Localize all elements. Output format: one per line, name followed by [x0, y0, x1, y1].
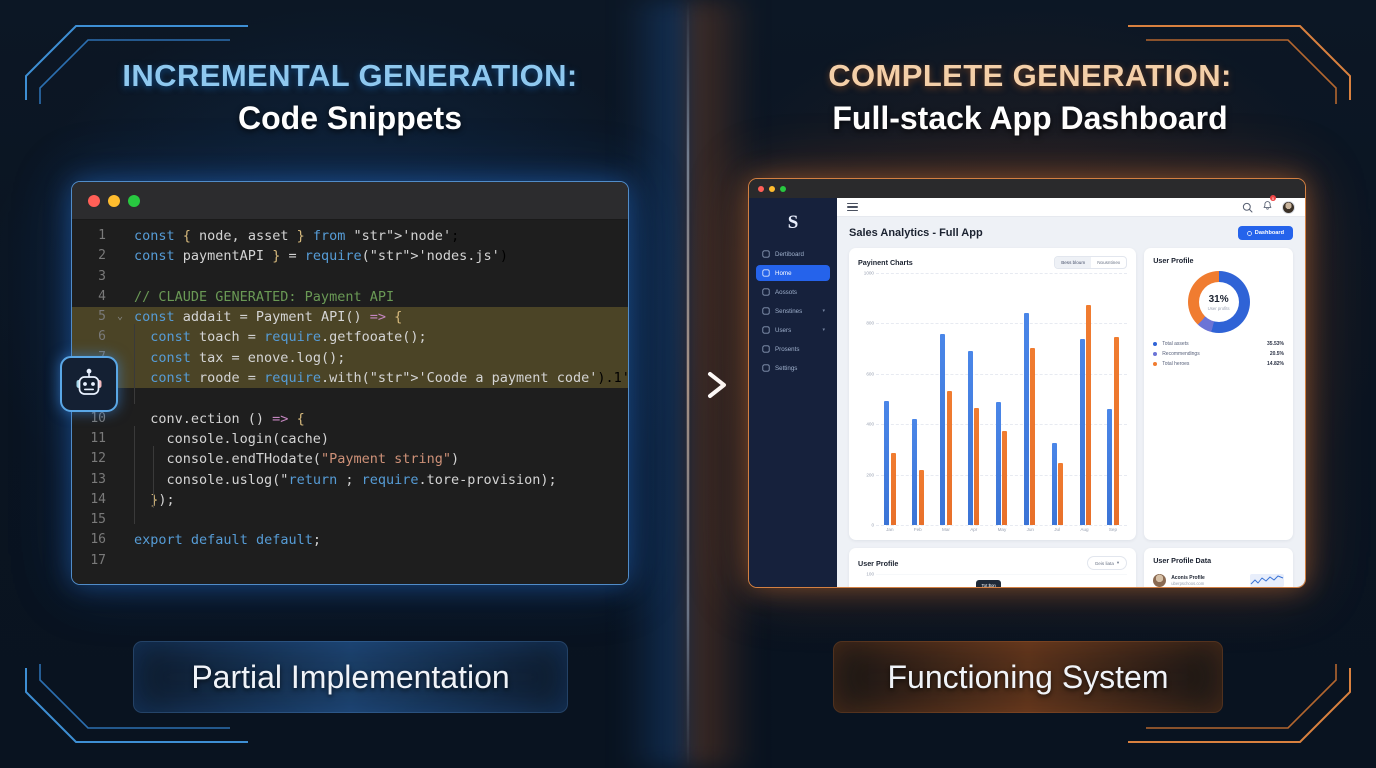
code-text: // CLAUDE GENERATED: Payment API: [126, 287, 394, 307]
sidebar-item-dertiboard[interactable]: Dertiboard: [756, 246, 830, 262]
bar: [884, 401, 889, 525]
sidebar-item-label: Users: [775, 327, 791, 334]
dashboard-page-header: Sales Analytics - Full App Dashboard: [837, 217, 1305, 244]
bar: [912, 419, 917, 526]
code-line: 3: [72, 267, 628, 287]
home-icon: [762, 250, 770, 258]
bar: [974, 408, 979, 525]
y-tick: 1000: [864, 271, 874, 276]
code-line: 14 });: [72, 490, 628, 510]
app-logo: S: [749, 208, 837, 238]
toggle-option-1[interactable]: Nousntinex: [1091, 257, 1126, 268]
sidebar-item-label: Aossots: [775, 289, 797, 296]
code-text: conv.ection () => {: [126, 409, 305, 429]
y-tick: 100: [866, 572, 874, 577]
page-title: Sales Analytics - Full App: [849, 227, 983, 239]
sidebar-item-label: Senstines: [775, 308, 802, 315]
line-number: 6: [72, 327, 114, 347]
arrow-right-icon: [648, 368, 734, 402]
right-heading-line2: Full-stack App Dashboard: [720, 96, 1340, 140]
bar-chart-y-axis: 10008006004002000: [858, 273, 876, 525]
legend-row: Recommendings20.5%: [1153, 351, 1284, 357]
bell-icon[interactable]: 0: [1262, 198, 1273, 216]
code-text: const tax = enove.log();: [126, 348, 345, 368]
sidebar-item-label: Home: [775, 270, 792, 277]
legend-dot: [1153, 362, 1157, 366]
sidebar-item-aossots[interactable]: Aossots: [756, 284, 830, 300]
legend-dot: [1153, 342, 1157, 346]
x-tick: Jul: [1054, 527, 1060, 532]
users-list: Aconis Profileuberpschoos.comAndiel Wasi…: [1153, 569, 1284, 588]
line-number: 17: [72, 551, 114, 571]
search-icon[interactable]: [1242, 202, 1253, 213]
x-tick: Jun: [1027, 527, 1034, 532]
dashboard-titlebar: [749, 179, 1305, 198]
bar: [996, 402, 1001, 526]
sidebar-item-settings[interactable]: Settings: [756, 360, 830, 376]
bar: [1086, 305, 1091, 525]
area-chart-plot-area: 100806040200 Tot $on: [858, 574, 1127, 588]
code-line: 4// CLAUDE GENERATED: Payment API: [72, 287, 628, 307]
bar: [968, 351, 973, 525]
left-heading: INCREMENTAL GENERATION: Code Snippets: [40, 56, 660, 140]
code-text: const roode = require.with("str">'Coode …: [126, 368, 597, 388]
left-label-text: Partial Implementation: [191, 659, 509, 696]
bar-group: [1107, 273, 1119, 525]
area-chart-card: User Profile Geis liata ▾ 100806040200 T…: [849, 548, 1136, 588]
area-chart-dropdown[interactable]: Geis liata ▾: [1087, 556, 1127, 570]
code-text: console.endTHodate("Payment string"): [126, 449, 459, 469]
donut-chart: 31% User profits: [1188, 271, 1250, 333]
user-avatar: [1153, 574, 1166, 587]
line-number: 12: [72, 449, 114, 469]
line-number: 1: [72, 226, 114, 246]
spark-icon: [1247, 231, 1252, 236]
x-tick: May: [998, 527, 1007, 532]
clock-icon: [762, 288, 770, 296]
user-info: Aconis Profileuberpschoos.com: [1171, 575, 1245, 586]
legend-dot: [1153, 352, 1157, 356]
code-text: const { node, asset } from "str">'node': [126, 226, 451, 246]
chevron-down-icon: ▾: [822, 327, 825, 333]
bar: [1030, 348, 1035, 526]
left-heading-line2: Code Snippets: [40, 96, 660, 140]
sidebar-item-label: Settings: [775, 365, 797, 372]
bar-chart-title: Payinent Charts: [858, 258, 913, 267]
dashboard-topbar: 0: [837, 198, 1305, 217]
infographic-canvas: INCREMENTAL GENERATION: Code Snippets CO…: [0, 0, 1376, 768]
sidebar-item-label: Prosents: [775, 346, 799, 353]
bar-group: [1080, 273, 1092, 525]
hamburger-icon[interactable]: [847, 203, 858, 212]
user-email: uberpschoos.com: [1171, 581, 1245, 586]
chart-icon: [762, 307, 770, 315]
line-number: 3: [72, 267, 114, 287]
donut-center-label: User profits: [1208, 306, 1230, 311]
donut-legend: Total assets35.53%Recommendings20.5%Tota…: [1153, 337, 1284, 367]
bar-chart-x-axis: JanFebMarAprMayJunJulAugSep: [858, 527, 1127, 532]
bar-group: [968, 273, 980, 525]
line-number: 4: [72, 287, 114, 307]
gridline: [876, 525, 1127, 526]
area-chart-svg: [876, 574, 1127, 588]
bar-group: [884, 273, 896, 525]
line-number: 2: [72, 246, 114, 266]
code-text: export default default;: [126, 530, 321, 550]
bar: [1114, 337, 1119, 526]
x-tick: Aug: [1080, 527, 1088, 532]
code-line: 11 console.login(cache): [72, 429, 628, 449]
code-line: 13 console.uslog("return ; require.tore-…: [72, 470, 628, 490]
users-card: User Profile Data Aconis Profileuberpsch…: [1144, 548, 1293, 588]
code-line: 7 const tax = enove.log();: [72, 348, 628, 368]
code-line: 9: [72, 388, 628, 408]
line-number: 16: [72, 530, 114, 550]
line-number: 5: [72, 307, 114, 327]
x-tick: Mar: [942, 527, 950, 532]
x-tick: Apr: [970, 527, 977, 532]
legend-label: Total assets: [1162, 341, 1267, 347]
fold-toggle-icon[interactable]: ⌄: [114, 307, 126, 327]
area-chart-y-axis: 100806040200: [858, 574, 876, 588]
maximize-button-dash[interactable]: [780, 186, 786, 192]
right-heading: COMPLETE GENERATION: Full-stack App Dash…: [720, 56, 1340, 140]
sidebar-item-home[interactable]: Home: [756, 265, 830, 281]
x-tick: Sep: [1109, 527, 1117, 532]
code-text: const paymentAPI } = require("str">'node…: [126, 246, 500, 266]
chevron-down-icon: ▾: [822, 308, 825, 314]
code-line: 8 const roode = require.with("str">'Cood…: [72, 368, 628, 388]
user-sparkline: [1250, 574, 1284, 587]
folder-icon: [762, 326, 770, 334]
line-number: 14: [72, 490, 114, 510]
close-button-dash[interactable]: [758, 186, 764, 192]
x-tick: Jan: [886, 527, 893, 532]
code-line: 17: [72, 551, 628, 571]
area-chart-dropdown-label: Geis liata: [1095, 561, 1114, 566]
code-editor-titlebar: [72, 182, 628, 220]
left-heading-line1: INCREMENTAL GENERATION:: [40, 56, 660, 96]
code-line: 6 const toach = require.getfooate();: [72, 327, 628, 347]
area-chart-tooltip: Tot $on: [976, 580, 1000, 588]
dashboard-main: 0 Sales Analytics - Full App Dashboard: [837, 198, 1305, 588]
bar: [1080, 339, 1085, 525]
donut-chart-title: User Profile: [1153, 256, 1193, 265]
sidebar-item-label: Dertiboard: [775, 251, 804, 258]
donut-chart-card: User Profile 31% User profits Total asse…: [1144, 248, 1293, 540]
code-line: 15: [72, 510, 628, 530]
code-editor-window: 1const { node, asset } from "str">'node'…: [71, 181, 629, 585]
donut-center: 31% User profits: [1199, 282, 1239, 322]
line-number: 15: [72, 510, 114, 530]
notification-badge: 0: [1270, 195, 1276, 201]
line-number: 13: [72, 470, 114, 490]
bar-group: [1024, 273, 1036, 525]
users-card-title: User Profile Data: [1153, 556, 1211, 565]
robot-icon: [60, 356, 118, 412]
bar: [891, 453, 896, 525]
code-line: 12 console.endTHodate("Payment string"): [72, 449, 628, 469]
bar-group: [912, 273, 924, 525]
bar-chart-plot-area: 10008006004002000: [858, 273, 1127, 525]
left-label: Partial Implementation: [133, 641, 568, 713]
y-tick: 0: [871, 523, 874, 528]
chevron-down-icon: ▾: [1117, 560, 1119, 566]
legend-label: Recommendings: [1162, 351, 1270, 357]
sidebar-item-users[interactable]: Users▾: [756, 322, 830, 338]
user-row[interactable]: Aconis Profileuberpschoos.com: [1153, 574, 1284, 587]
right-heading-line1: COMPLETE GENERATION:: [720, 56, 1340, 96]
x-tick: Feb: [914, 527, 922, 532]
bar-group: [940, 273, 952, 525]
bar: [919, 470, 924, 525]
donut-center-value: 31%: [1209, 294, 1229, 305]
legend-row: Total heroes14.82%: [1153, 361, 1284, 367]
box-icon: [762, 345, 770, 353]
code-line: 1const { node, asset } from "str">'node'…: [72, 226, 628, 246]
toggle-option-0[interactable]: Bess bloum: [1055, 257, 1091, 268]
legend-value: 35.53%: [1267, 341, 1284, 347]
dashboard-grid: Payinent Charts Bess bloum Nousntinex 10…: [837, 244, 1305, 588]
code-line: 5⌄const addait = Payment API() => {: [72, 307, 628, 327]
bar: [1052, 443, 1057, 525]
dashboard-sidebar: S DertiboardHomeAossotsSenstines▾Users▾P…: [749, 198, 837, 588]
grid-icon: [762, 269, 770, 277]
area-chart-series: [876, 574, 1127, 588]
right-label: Functioning System: [833, 641, 1223, 713]
code-line: 2const paymentAPI } = require("str">'nod…: [72, 246, 628, 266]
code-text: console.login(cache): [126, 429, 329, 449]
bar: [1024, 313, 1029, 525]
y-tick: 800: [866, 321, 874, 326]
legend-value: 20.5%: [1270, 351, 1284, 357]
bar: [1002, 431, 1007, 525]
dashboard-window: S DertiboardHomeAossotsSenstines▾Users▾P…: [748, 178, 1306, 588]
legend-row: Total assets35.53%: [1153, 341, 1284, 347]
bar-group: [1052, 273, 1064, 525]
gear-icon: [762, 364, 770, 372]
code-line: 16export default default;: [72, 530, 628, 550]
code-editor-body[interactable]: 1const { node, asset } from "str">'node'…: [72, 220, 628, 585]
area-chart-title: User Profile: [858, 559, 898, 568]
bar: [940, 334, 945, 525]
bar-chart-card: Payinent Charts Bess bloum Nousntinex 10…: [849, 248, 1136, 540]
y-tick: 200: [866, 472, 874, 477]
sidebar-item-senstines[interactable]: Senstines▾: [756, 303, 830, 319]
close-button[interactable]: [88, 195, 100, 207]
y-tick: 600: [866, 371, 874, 376]
code-text: console.uslog("return ; require.tore-pro…: [126, 470, 557, 490]
dashboard-primary-button[interactable]: Dashboard: [1238, 226, 1293, 240]
bar: [947, 391, 952, 525]
bar-group: [996, 273, 1008, 525]
bar-chart-bars: [876, 273, 1127, 525]
legend-value: 14.82%: [1267, 361, 1284, 367]
right-label-text: Functioning System: [887, 659, 1168, 696]
code-text: const addait = Payment API() => {: [126, 307, 402, 327]
bar: [1058, 463, 1063, 525]
code-line: 10 conv.ection () => {: [72, 409, 628, 429]
avatar[interactable]: [1282, 201, 1295, 214]
sidebar-item-prosents[interactable]: Prosents: [756, 341, 830, 357]
line-number: 11: [72, 429, 114, 449]
y-tick: 400: [866, 422, 874, 427]
bar-chart-toggle[interactable]: Bess bloum Nousntinex: [1054, 256, 1127, 269]
code-text: const toach = require.getfooate();: [126, 327, 427, 347]
legend-label: Total heroes: [1162, 361, 1267, 367]
minimize-button[interactable]: [108, 195, 120, 207]
minimize-button-dash[interactable]: [769, 186, 775, 192]
maximize-button[interactable]: [128, 195, 140, 207]
dashboard-primary-button-label: Dashboard: [1255, 230, 1284, 236]
bar: [1107, 409, 1112, 525]
